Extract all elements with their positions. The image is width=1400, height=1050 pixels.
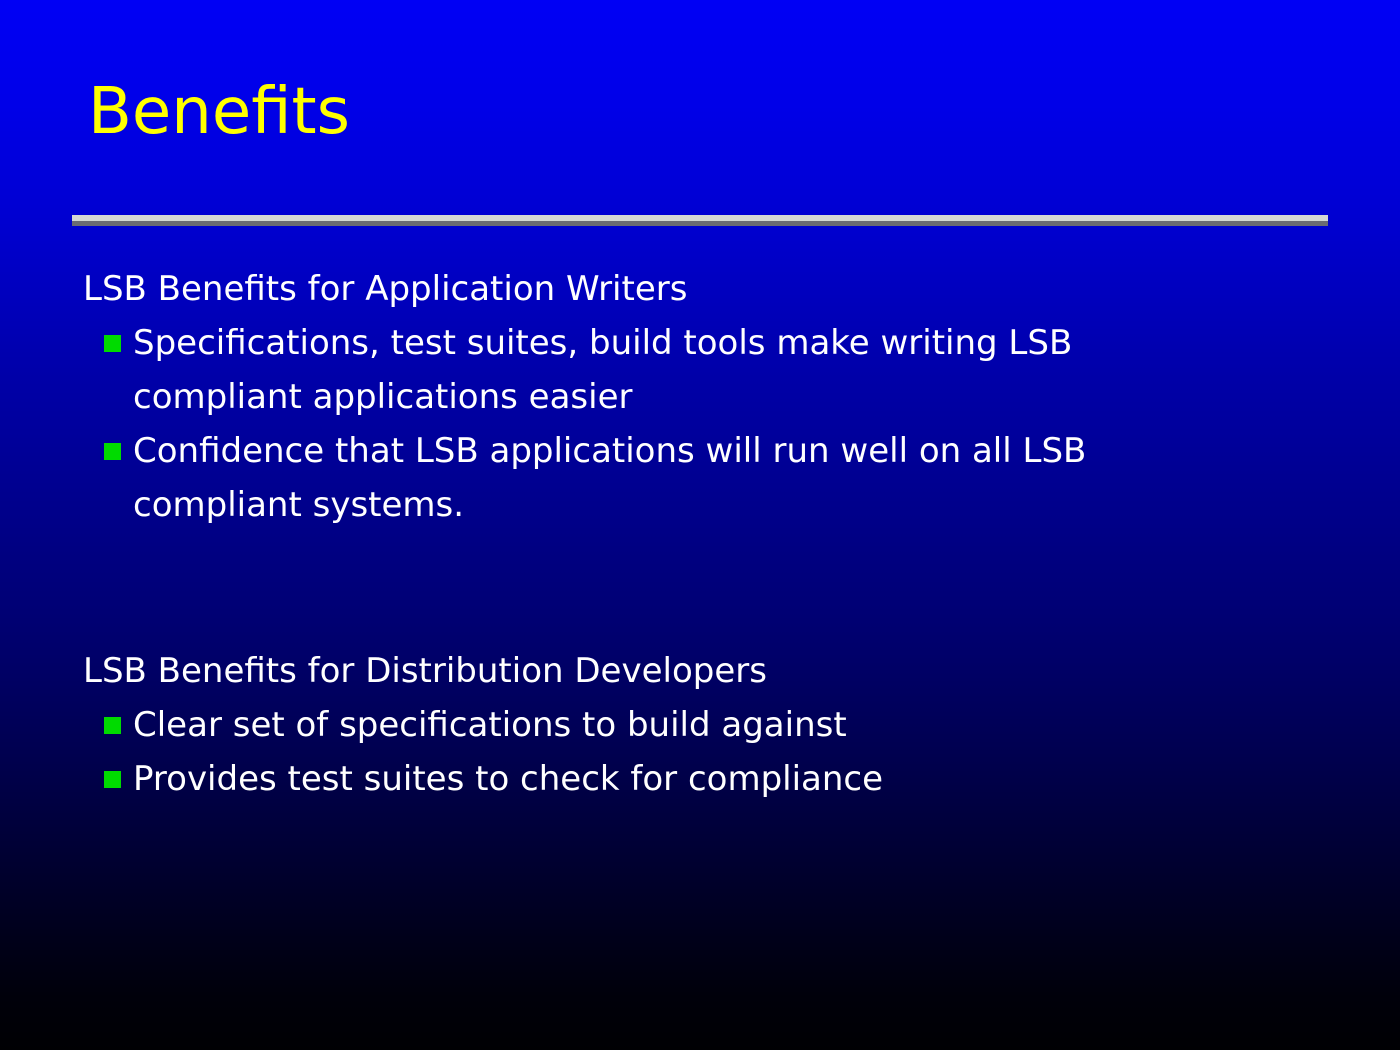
list-item-label: Specifications, test suites, build tools… [133, 323, 1072, 417]
square-bullet-icon [104, 717, 121, 734]
slide-title: Benefits [88, 76, 350, 148]
title-divider [72, 215, 1328, 224]
bullet-list: Clear set of specifications to build aga… [0, 698, 1400, 806]
section-heading: LSB Benefits for Application Writers [0, 262, 1400, 316]
section-spacer [0, 532, 1400, 644]
presentation-slide: Benefits LSB Benefits for Application Wr… [0, 0, 1400, 1050]
square-bullet-icon [104, 771, 121, 788]
list-item-label: Confidence that LSB applications will ru… [133, 431, 1086, 525]
list-item: Confidence that LSB applications will ru… [0, 424, 1400, 532]
square-bullet-icon [104, 335, 121, 352]
divider-shadow [72, 221, 1328, 226]
section-distribution-developers: LSB Benefits for Distribution Developers… [0, 644, 1400, 806]
list-item: Specifications, test suites, build tools… [0, 316, 1400, 424]
list-item: Clear set of specifications to build aga… [0, 698, 1400, 752]
section-application-writers: LSB Benefits for Application Writers Spe… [0, 262, 1400, 532]
list-item-label: Provides test suites to check for compli… [133, 759, 883, 799]
square-bullet-icon [104, 443, 121, 460]
bullet-list: Specifications, test suites, build tools… [0, 316, 1400, 532]
list-item-label: Clear set of specifications to build aga… [133, 705, 847, 745]
section-heading: LSB Benefits for Distribution Developers [0, 644, 1400, 698]
list-item: Provides test suites to check for compli… [0, 752, 1400, 806]
slide-body: LSB Benefits for Application Writers Spe… [0, 262, 1400, 806]
